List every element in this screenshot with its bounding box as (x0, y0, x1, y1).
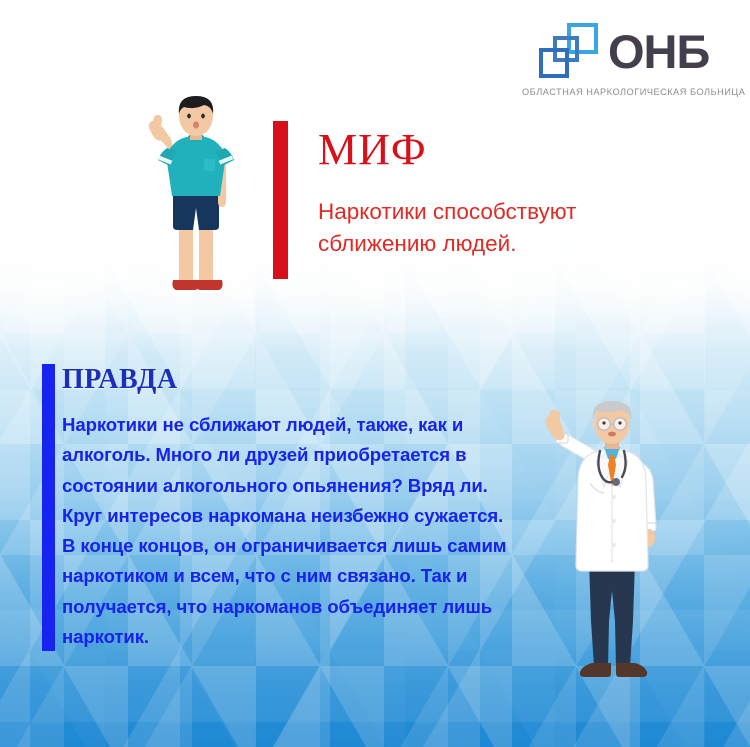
doctor-shoe-left (580, 663, 611, 677)
teenage-boy-waving-illustration (133, 96, 259, 304)
organization-logo: ОНБ ОБЛАСТНАЯ НАРКОЛОГИЧЕСКАЯ БОЛЬНИЦА (522, 22, 738, 97)
truth-title: ПРАВДА (62, 366, 512, 394)
poster-canvas: ОНБ ОБЛАСТНАЯ НАРКОЛОГИЧЕСКАЯ БОЛЬНИЦА (0, 0, 750, 747)
teen-leg-left (179, 224, 193, 280)
teen-pocket (204, 159, 215, 171)
truth-block: ПРАВДА Наркотики не сближают людей, такж… (62, 366, 512, 652)
doctor-button-3 (612, 543, 616, 547)
truth-body-text: Наркотики не сближают людей, также, как … (62, 410, 512, 652)
myth-accent-bar (273, 121, 288, 279)
doctor-stethoscope-chestpiece (612, 478, 620, 486)
teen-shorts (173, 192, 219, 230)
truth-accent-bar (42, 364, 55, 651)
doctor-button-1 (612, 495, 616, 499)
doctor-eye-left (602, 421, 605, 424)
teen-eye-right (201, 114, 205, 119)
doctor-button-2 (612, 519, 616, 523)
logo-wordmark: ОНБ (608, 28, 709, 75)
teen-leg-right (199, 224, 213, 280)
doctor-mouth (608, 432, 616, 437)
teen-mouth (193, 121, 199, 128)
myth-body-text: Наркотики способствуют сближению людей. (318, 196, 648, 260)
myth-title: МИФ (318, 128, 648, 172)
teen-shoe-right (197, 280, 223, 290)
teen-shirt (167, 136, 225, 196)
teen-eye-left (187, 114, 191, 119)
doctor-shoe-right (616, 663, 647, 677)
myth-block: МИФ Наркотики способствуют сближению люд… (318, 128, 648, 260)
doctor-trousers (589, 561, 635, 667)
logo-row: ОНБ (522, 22, 738, 80)
logo-tagline: ОБЛАСТНАЯ НАРКОЛОГИЧЕСКАЯ БОЛЬНИЦА (522, 87, 738, 97)
three-overlapping-squares-logo-icon (538, 22, 600, 80)
doctor-eye-right (618, 421, 621, 424)
teen-shoe-left (172, 280, 198, 290)
doctor-waving-illustration (534, 401, 690, 684)
